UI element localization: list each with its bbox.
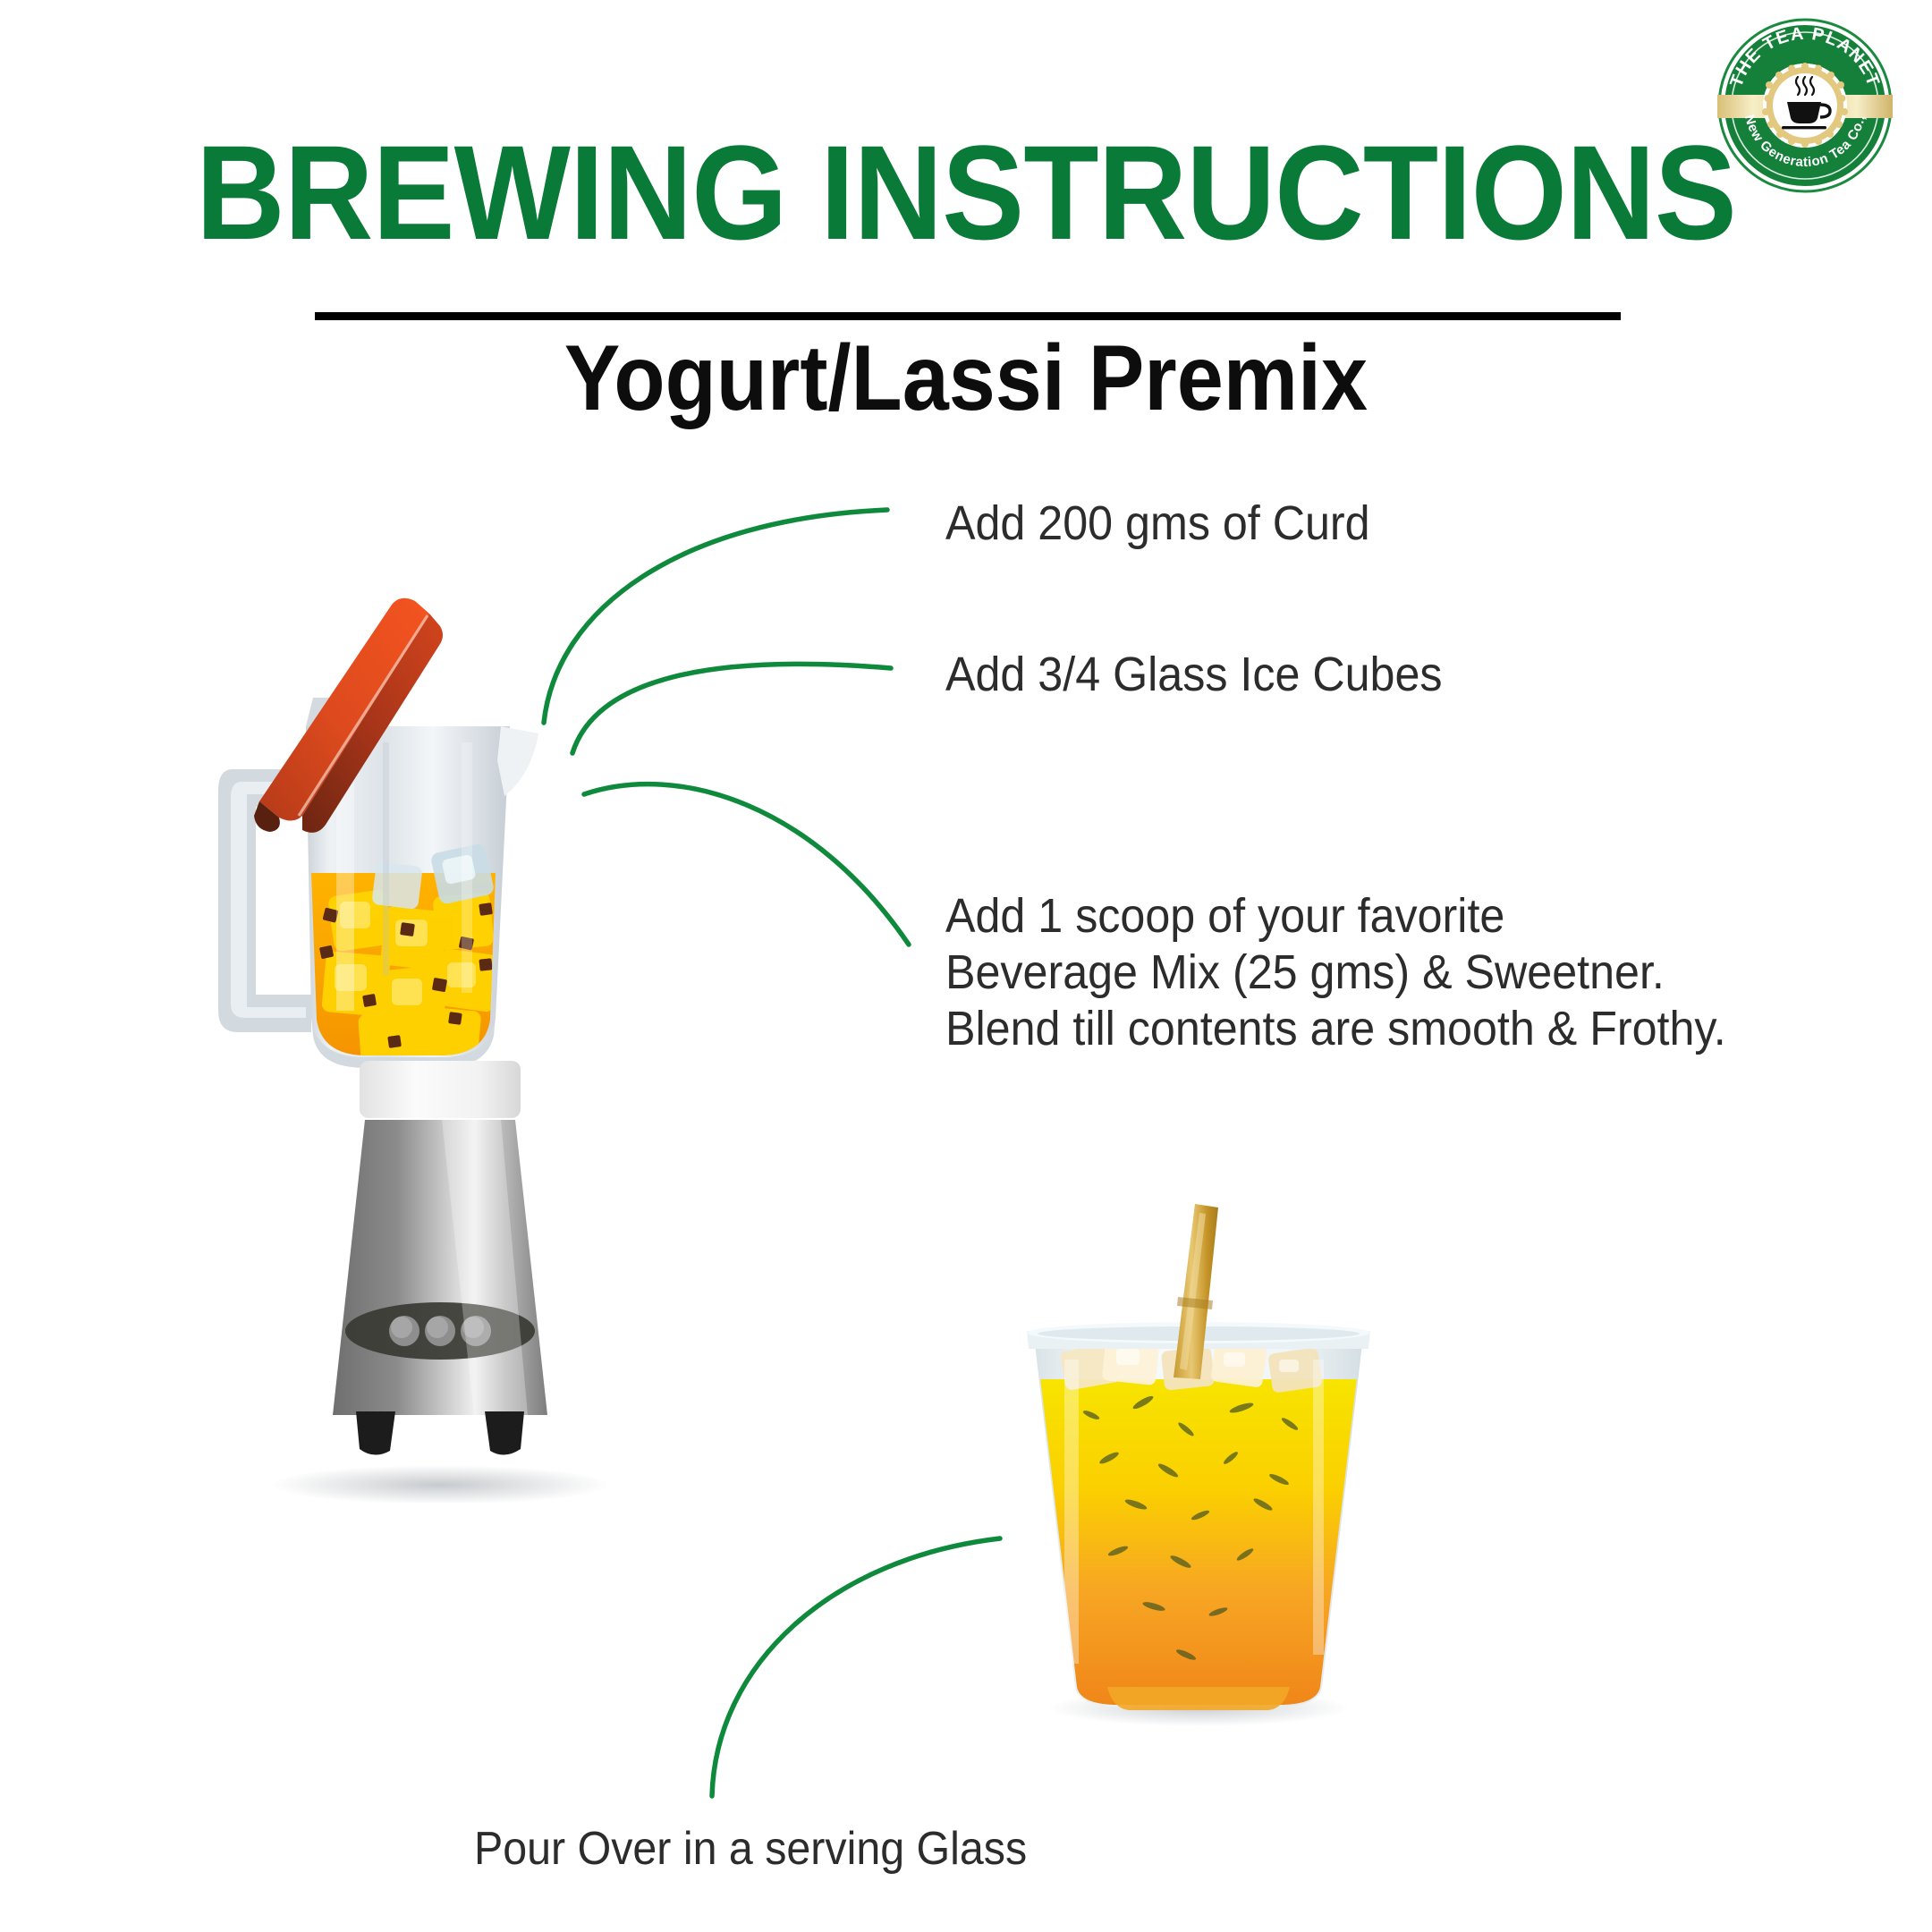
page-title: BREWING INSTRUCTIONS	[77, 125, 1854, 259]
title-underline	[315, 312, 1621, 320]
blender-feet	[356, 1411, 524, 1455]
blender-collar	[360, 1061, 521, 1118]
step-1-label: Add 200 gms of Curd	[945, 496, 1370, 552]
connector-arc-4	[712, 1538, 1000, 1796]
serving-glass-illustration	[1011, 1190, 1386, 1726]
blender-shadow	[270, 1465, 610, 1503]
step-3-label: Add 1 scoop of your favorite Beverage Mi…	[945, 888, 1726, 1057]
blender-illustration	[206, 590, 671, 1503]
glass-base	[1107, 1687, 1290, 1710]
step-4-label: Pour Over in a serving Glass	[474, 1821, 1027, 1877]
glass-drink	[1029, 1379, 1386, 1719]
blender-spout	[497, 726, 538, 796]
page-subtitle: Yogurt/Lassi Premix	[97, 329, 1835, 428]
infographic-canvas: THE TEA PLANET New Generation Tea Co., B…	[0, 0, 1932, 1932]
step-2-label: Add 3/4 Glass Ice Cubes	[945, 647, 1443, 703]
